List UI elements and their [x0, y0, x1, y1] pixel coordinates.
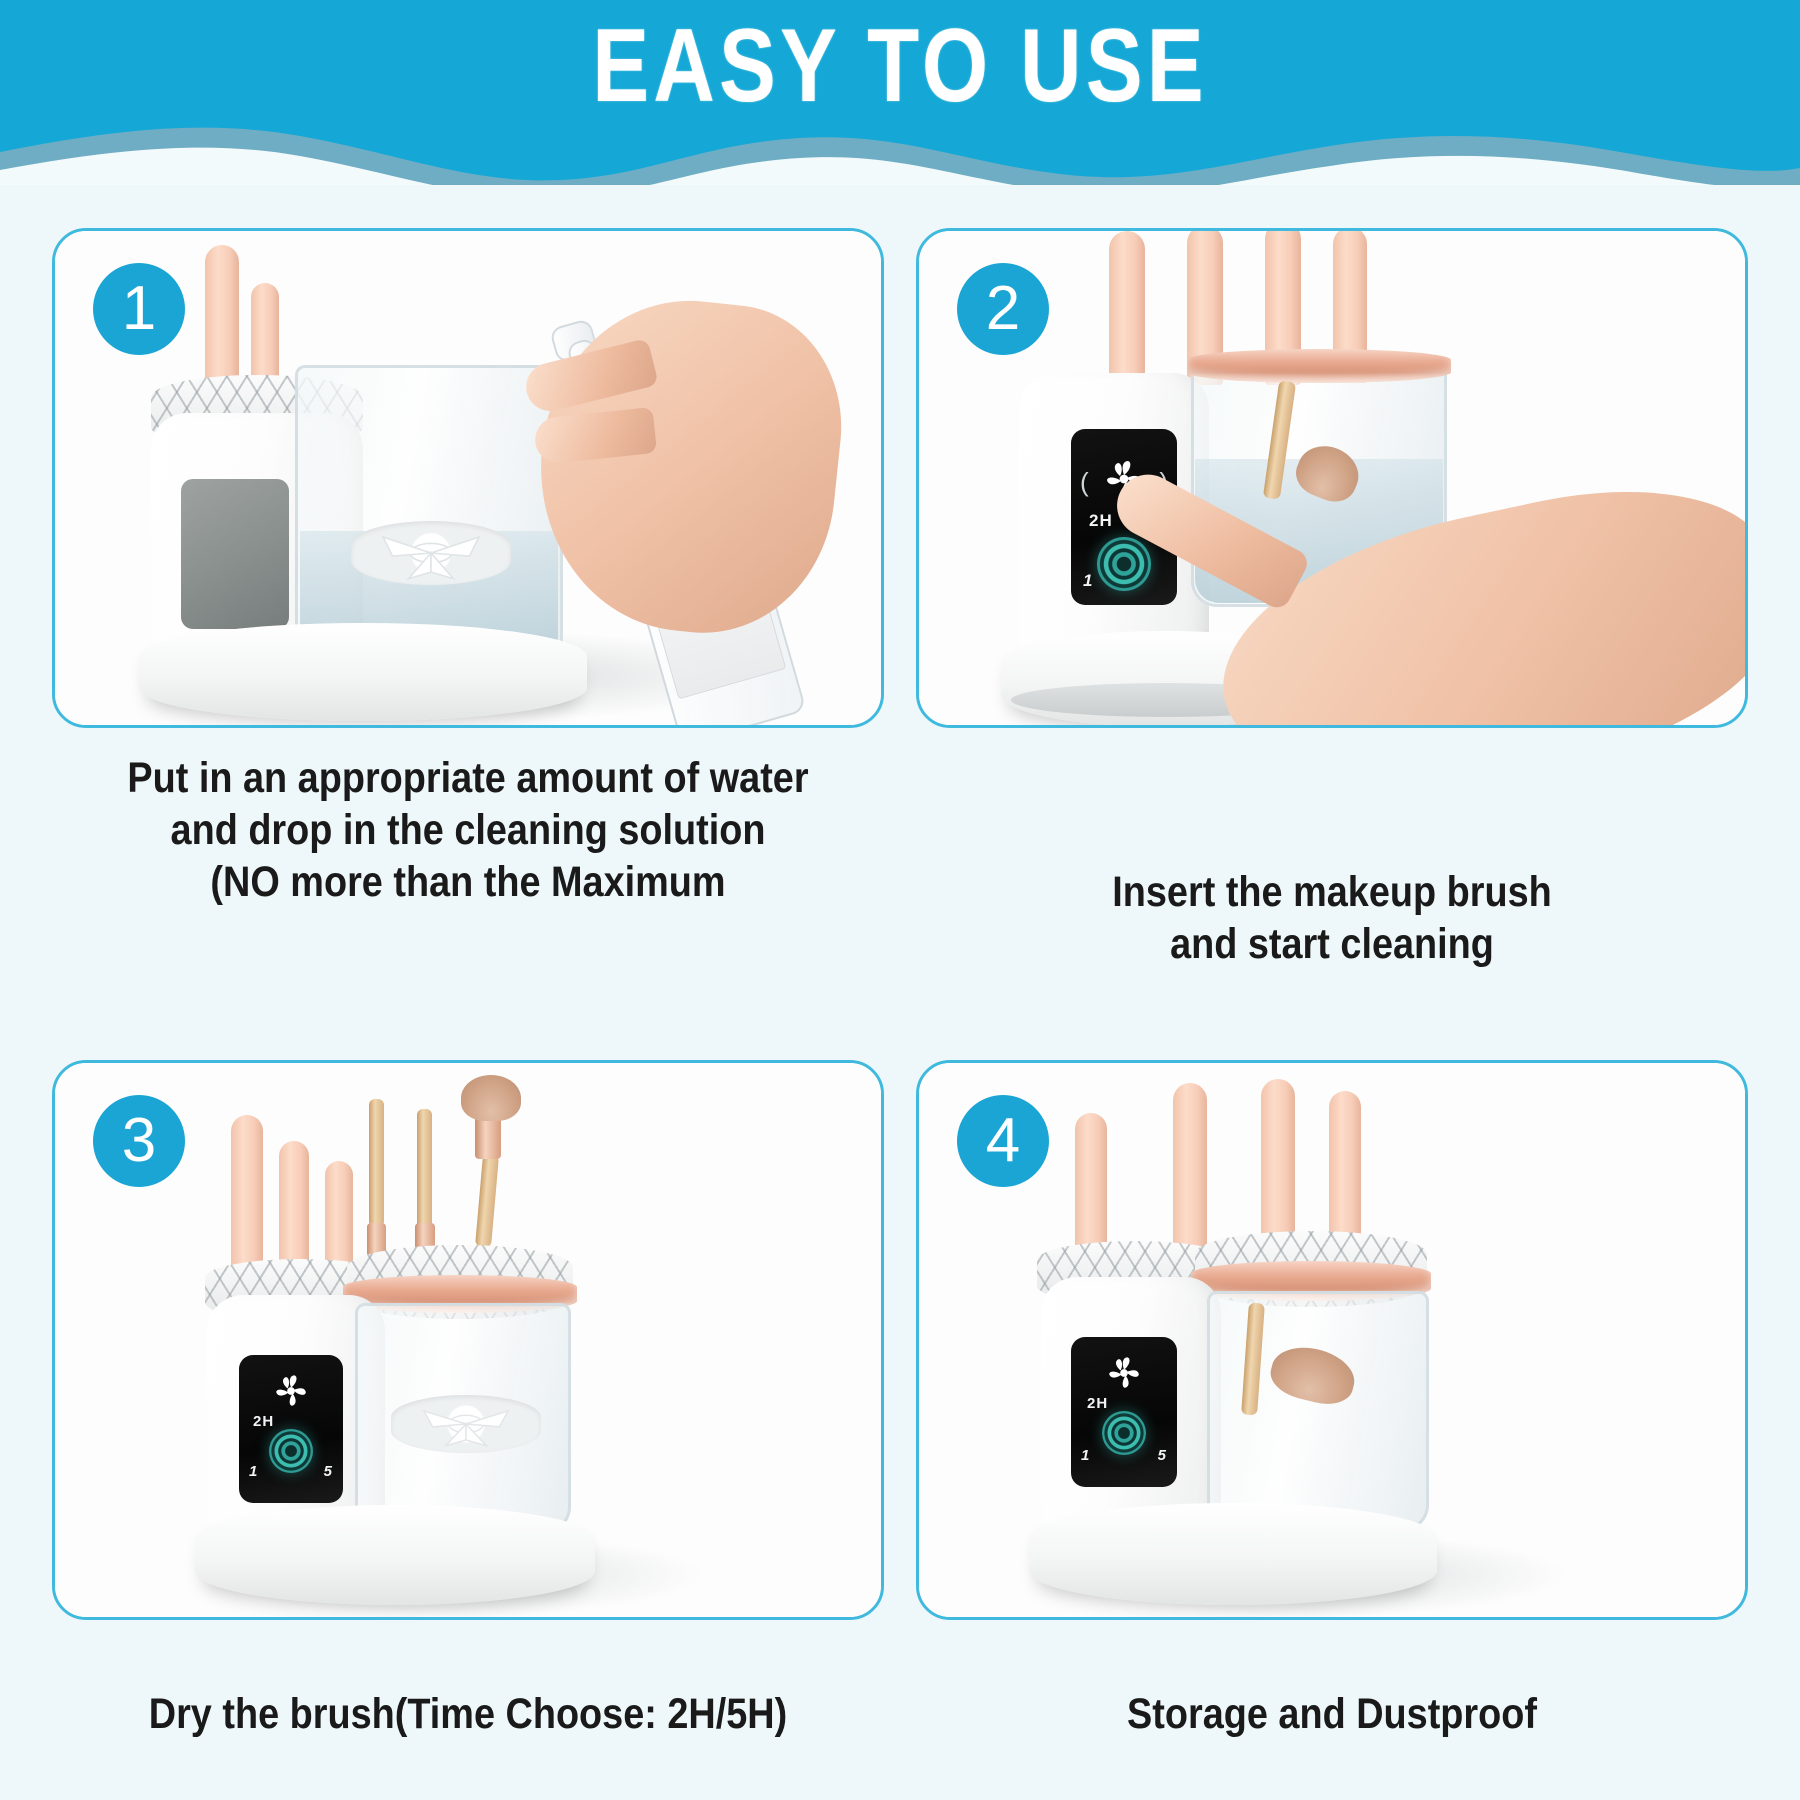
storage-cup [1207, 1291, 1429, 1531]
step-panel-3: 2H 1 5 3 [52, 1060, 884, 1620]
power-ring-button[interactable] [269, 1429, 313, 1473]
page-title: EASY TO USE [162, 14, 1638, 118]
speed-1-label: 1 [1083, 571, 1093, 591]
brush-handle [417, 1109, 432, 1229]
step-panel-1: 1 [52, 228, 884, 728]
fan-arc-left-icon: ( [1080, 469, 1089, 495]
timer-2h-label: 2H [1087, 1395, 1108, 1412]
step-number-badge-1: 1 [93, 263, 185, 355]
drying-peg [231, 1115, 263, 1275]
brush-handle [369, 1099, 384, 1227]
step-caption-4: Storage and Dustproof [952, 1688, 1712, 1740]
impeller-blades-icon [351, 521, 511, 585]
drying-peg [1173, 1083, 1207, 1261]
brush-bristles [461, 1075, 521, 1121]
brush-handle [475, 1154, 499, 1247]
power-ring-button[interactable] [1097, 537, 1151, 591]
step-number-badge-3: 3 [93, 1095, 185, 1187]
step-caption-3: Dry the brush(Time Choose: 2H/5H) [91, 1688, 844, 1740]
speed-1-label: 1 [1081, 1447, 1090, 1464]
step-number-badge-2: 2 [957, 263, 1049, 355]
step-panel-4: 2H 1 5 4 [916, 1060, 1748, 1620]
device-base [139, 623, 587, 721]
step-caption-2: Insert the makeup brush and start cleani… [952, 866, 1712, 970]
header-banner: EASY TO USE [0, 0, 1800, 185]
control-panel[interactable]: 2H 1 5 [239, 1355, 343, 1503]
impeller-blades-icon [391, 1395, 541, 1453]
device-base [1029, 1503, 1437, 1605]
cup-rose-rim [1187, 349, 1451, 383]
timer-2h-label: 2H [1089, 511, 1113, 531]
step-caption-1: Put in an appropriate amount of water an… [91, 752, 844, 908]
power-ring-button[interactable] [1102, 1411, 1146, 1455]
timer-2h-label: 2H [253, 1413, 274, 1430]
fan-pinwheel-icon [1104, 1355, 1144, 1391]
speed-1-label: 1 [249, 1463, 258, 1480]
control-panel[interactable]: 2H 1 5 [1071, 1337, 1177, 1487]
fan-pinwheel-icon [271, 1373, 311, 1409]
drying-peg [1109, 231, 1145, 381]
timer-5h-label: 5 [324, 1463, 333, 1480]
step-number-badge-4: 4 [957, 1095, 1049, 1187]
step-panel-2: ( ) 2H 1 2 [916, 228, 1748, 728]
drying-peg [1261, 1079, 1295, 1255]
impeller [391, 1395, 541, 1453]
display-window [181, 479, 289, 629]
timer-5h-label: 5 [1158, 1447, 1167, 1464]
wave-divider-icon [0, 118, 1800, 185]
impeller [351, 521, 511, 585]
drying-peg [1329, 1091, 1361, 1255]
device-base [195, 1505, 595, 1605]
